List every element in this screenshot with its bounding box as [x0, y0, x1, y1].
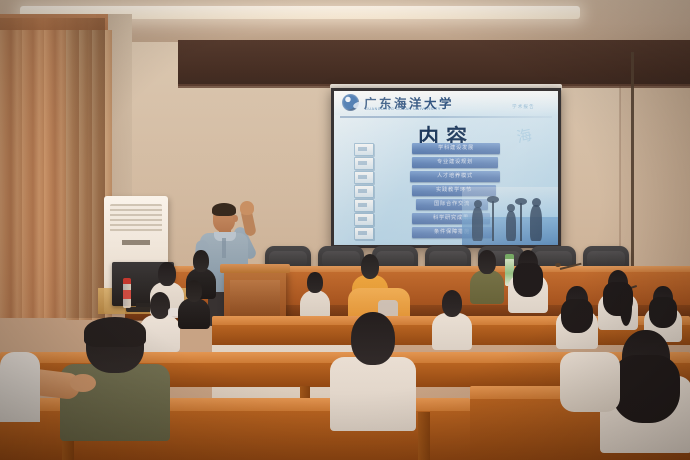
screen-glare — [334, 91, 558, 245]
audience-foreground-white-head — [351, 312, 396, 365]
audience-white-center-torso — [432, 313, 472, 351]
audience-back-left2-head — [193, 250, 209, 272]
audience-foreground-right-shirt — [560, 352, 620, 412]
dark-wood-valance-beam — [178, 40, 690, 86]
audience-back-left-head — [158, 262, 176, 286]
projector-screen: 广东海洋大学 GUANGDONG OCEAN UNIVERSITY 学术报告 内… — [334, 91, 558, 245]
lecture-hall-photo: 广东海洋大学 GUANGDONG OCEAN UNIVERSITY 学术报告 内… — [0, 0, 690, 460]
audience-row3-a-head — [307, 272, 323, 293]
audience-camo-head — [478, 250, 496, 274]
green-bottle-cap — [505, 254, 514, 259]
audience-masked-white-torso — [140, 315, 180, 353]
speaker-hair — [212, 203, 236, 216]
audience-left-edge-shirt — [0, 352, 40, 422]
water-bottle-cap — [123, 278, 131, 284]
vertical-pole — [631, 52, 634, 302]
air-conditioner-label — [122, 240, 150, 245]
water-bottle-label — [123, 290, 131, 299]
curtain-shading — [0, 18, 105, 318]
speaker-shirt-placket — [222, 238, 226, 258]
audience-foreground-hand — [70, 374, 96, 392]
air-conditioner-grille — [110, 204, 162, 232]
speaker-hand — [240, 201, 254, 215]
audience-camo-torso — [470, 270, 504, 304]
audience-member-long-hair — [513, 263, 543, 298]
audience-member-long-hair — [561, 299, 592, 334]
audience-black-tee-head — [186, 280, 203, 302]
audience-white-center-head — [442, 290, 463, 317]
audience-member-cap — [84, 317, 145, 347]
audience-row3-a-torso — [300, 290, 330, 319]
audience-black-tee-torso — [178, 298, 210, 329]
podium-top — [220, 264, 290, 273]
audience-member-long-hair — [649, 297, 677, 328]
audience-foreground-white-torso — [330, 357, 416, 431]
microphone-head-icon — [555, 263, 561, 267]
desk-leg — [418, 412, 430, 460]
audience-member-long-hair — [612, 355, 681, 423]
speaker-ear — [233, 215, 238, 222]
audience-orange-head — [361, 254, 380, 279]
